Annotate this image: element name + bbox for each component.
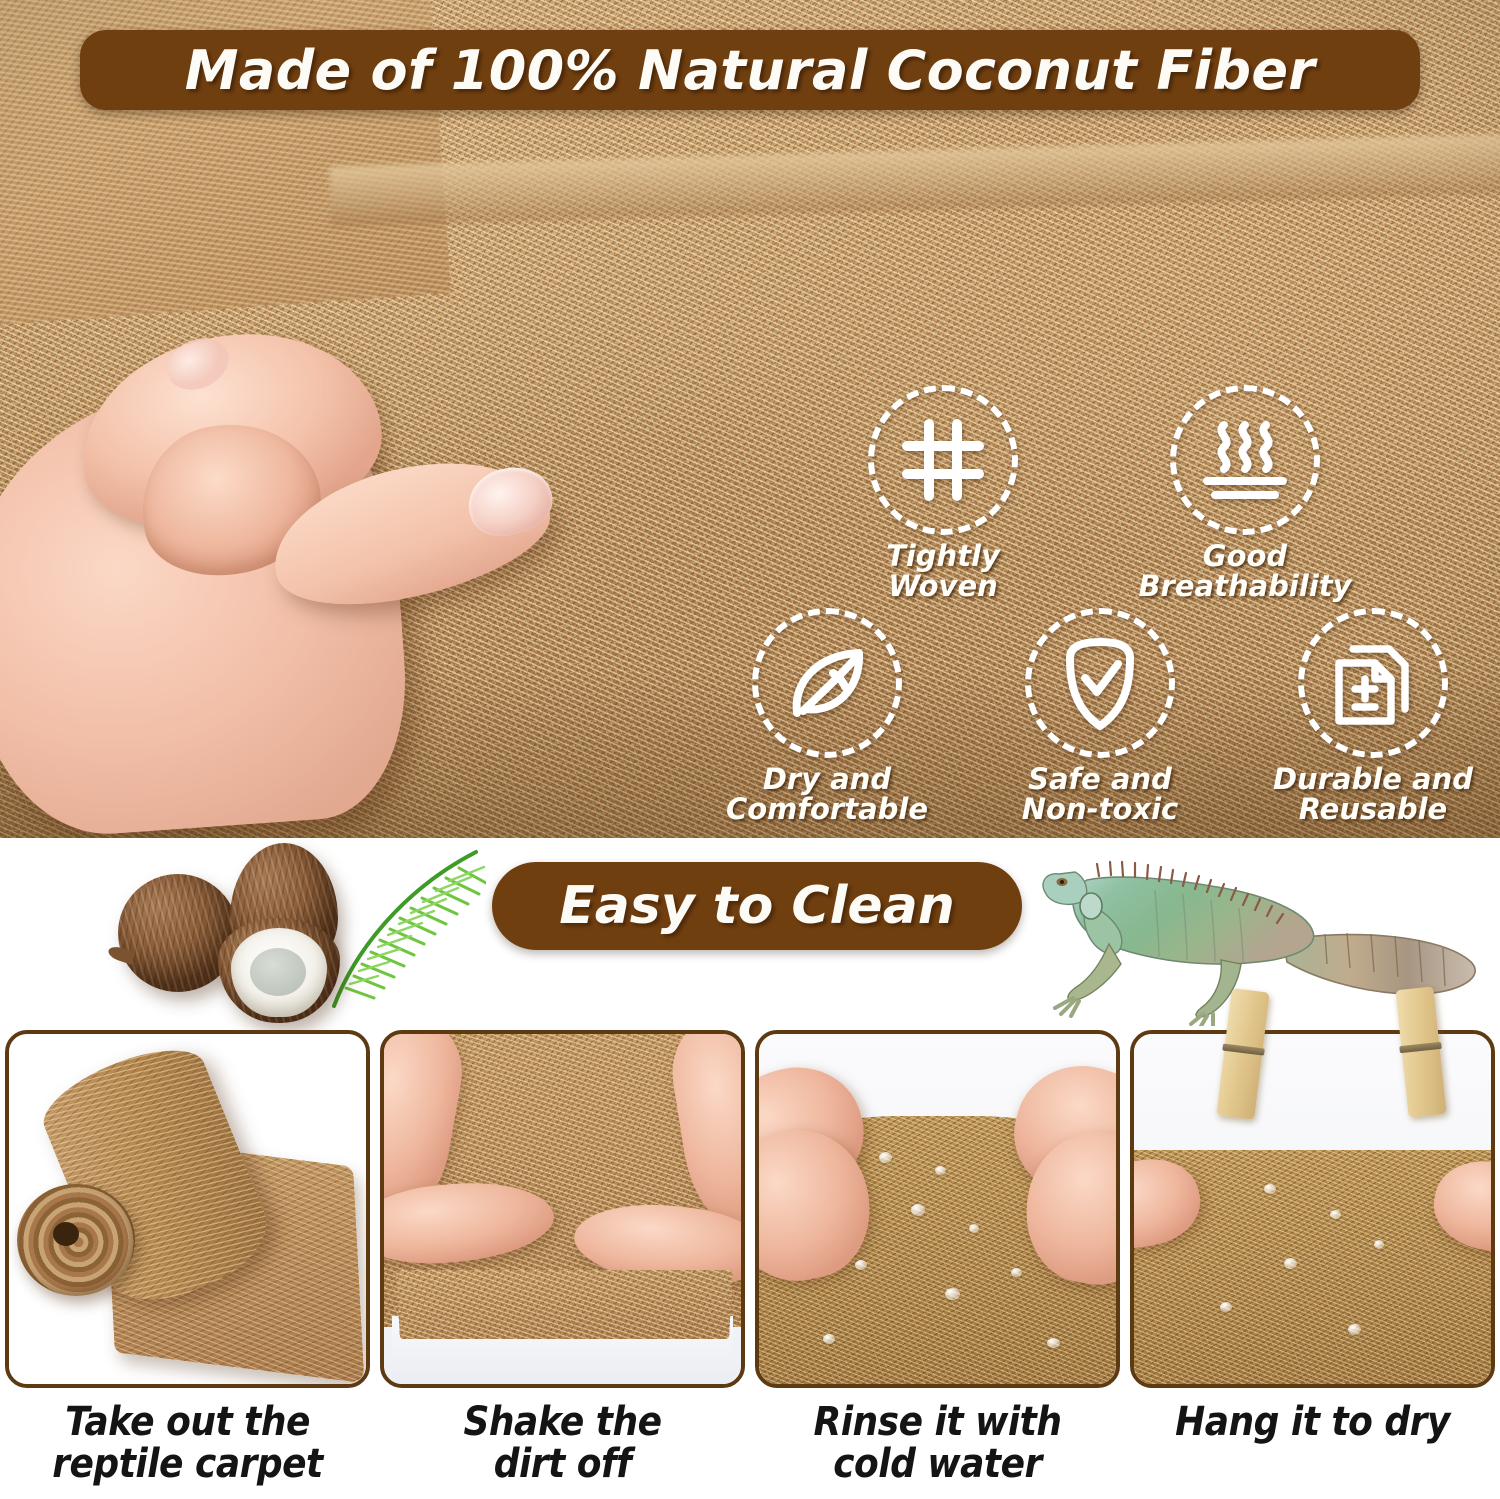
photo-inner [9,1034,366,1384]
iguana-front-leg [1068,944,1121,1000]
dashed-circle [1170,385,1320,535]
iguana-head [1043,872,1087,904]
carpet-roll-core [53,1222,79,1246]
water-droplet [1348,1324,1361,1335]
iguana-front-toes [1055,998,1079,1016]
step-2-photo [380,1030,745,1388]
caption-line2: dirt off [494,1441,632,1487]
caption-line1: Hang it to dry [1175,1399,1450,1445]
coconut-decoration [100,838,480,1023]
feature-label-line2: Comfortable [726,792,928,826]
photo-inner [759,1034,1116,1384]
step-card-2: Shake the dirt off [380,1030,745,1485]
hand-pinching-fiber [0,328,610,828]
feature-label: Dry and Comfortable [712,764,942,824]
product-infographic: Made of 100% Natural Coconut Fiber Tight… [0,0,1500,1499]
step-1-caption: Take out the reptile carpet [5,1402,370,1485]
step-card-3: Rinse it with cold water [755,1030,1120,1485]
feature-tightly-woven: Tightly Woven [828,385,1058,601]
caption-line1: Rinse it with [814,1399,1062,1445]
caption-line1: Take out the [65,1399,310,1445]
water-droplet [1011,1268,1022,1277]
grid-hash-icon [900,417,986,503]
dashed-circle [868,385,1018,535]
water-droplet [945,1288,960,1300]
feature-label: Good Breathability [1130,541,1360,601]
leaf-icon [783,639,871,727]
step-2-caption: Shake the dirt off [380,1402,745,1485]
caption-line1: Shake the [464,1399,662,1445]
step-3-caption: Rinse it with cold water [755,1402,1120,1485]
water-droplet [911,1204,925,1216]
dashed-circle [1298,608,1448,758]
feature-label-line1: Safe and [1028,762,1172,796]
water-droplet [935,1166,946,1175]
feature-good-breathability: Good Breathability [1130,385,1360,601]
water-droplet [1047,1338,1060,1348]
step-card-4: Hang it to dry [1130,1030,1495,1444]
cleaning-steps: Take out the reptile carpet Shake [0,1030,1500,1499]
feature-label-line1: Dry and [763,762,891,796]
header-banner: Made of 100% Natural Coconut Fiber [80,30,1420,110]
caption-line2: reptile carpet [52,1441,322,1487]
step-4-photo [1130,1030,1495,1388]
step-card-1: Take out the reptile carpet [5,1030,370,1485]
dashed-circle [752,608,902,758]
feature-label: Safe and Non-toxic [985,764,1215,824]
feature-dry-and-comfortable: Dry and Comfortable [712,608,942,824]
mat-lower-edge [396,1270,733,1339]
palm-frond-icon [316,838,486,1008]
feature-label-line2: Non-toxic [1022,792,1179,826]
feature-label-line1: Durable and [1273,762,1473,796]
water-droplet [1374,1240,1384,1249]
feature-label: Durable and Reusable [1258,764,1488,824]
caption-line2: cold water [833,1441,1042,1487]
section-title: Easy to Clean [559,876,955,936]
easy-to-clean-badge: Easy to Clean [492,862,1022,950]
water-droplet [1264,1184,1276,1194]
water-droplet [969,1224,979,1233]
feature-label: Tightly Woven [828,541,1058,601]
hero-fiber-photo: Made of 100% Natural Coconut Fiber Tight… [0,0,1500,838]
documents-plus-minus-icon [1329,637,1417,729]
water-droplet [1220,1302,1232,1312]
coconut-water [250,948,306,996]
feature-durable-and-reusable: Durable and Reusable [1258,608,1488,824]
iguana-subtympanic-scale [1080,893,1102,919]
water-droplet [879,1152,892,1163]
water-droplet [823,1334,835,1344]
step-1-photo [5,1030,370,1388]
palm-leaves [316,838,486,1008]
shield-check-icon [1060,636,1140,730]
feature-label-line2: Reusable [1299,792,1447,826]
water-droplet [1284,1258,1297,1269]
water-droplet [1330,1210,1341,1219]
page-title: Made of 100% Natural Coconut Fiber [185,39,1315,102]
photo-inner [384,1034,741,1384]
dashed-circle [1025,608,1175,758]
step-3-photo [755,1030,1120,1388]
iguana-hind-toes [1191,1014,1213,1026]
steam-lines-icon [1199,417,1291,503]
step-4-caption: Hang it to dry [1130,1402,1495,1444]
water-droplet [855,1260,867,1270]
easy-to-clean-band: Easy to Clean [0,838,1500,1030]
feature-safe-and-non-toxic: Safe and Non-toxic [985,608,1215,824]
